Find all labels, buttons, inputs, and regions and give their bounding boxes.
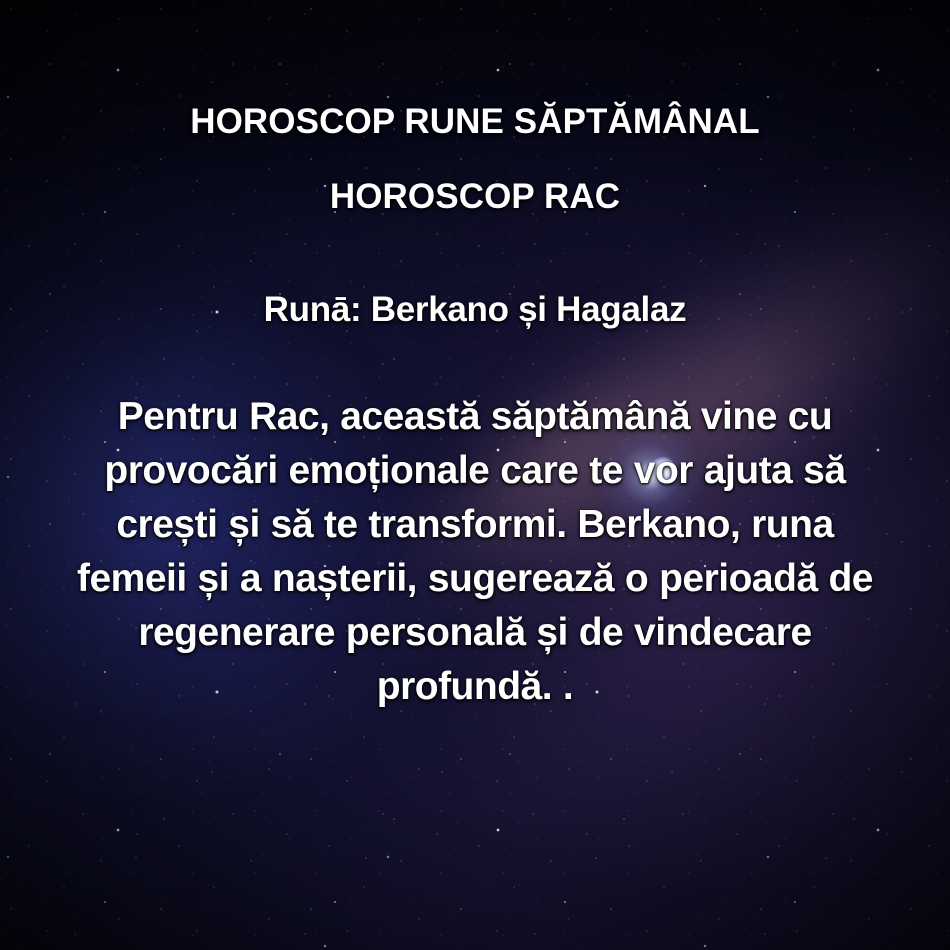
rune-label: Runā: Berkano și Hagalaz — [62, 292, 888, 329]
poster-content: HOROSCOP RUNE SĂPTĂMÂNAL HOROSCOP RAC Ru… — [0, 0, 950, 950]
horoscope-body-text: Pentru Rac, această săptămână vine cu pr… — [62, 390, 888, 714]
poster-title-secondary: HOROSCOP RAC — [62, 179, 888, 216]
poster-title-primary: HOROSCOP RUNE SĂPTĂMÂNAL — [62, 104, 888, 141]
horoscope-poster: HOROSCOP RUNE SĂPTĂMÂNAL HOROSCOP RAC Ru… — [0, 0, 950, 950]
